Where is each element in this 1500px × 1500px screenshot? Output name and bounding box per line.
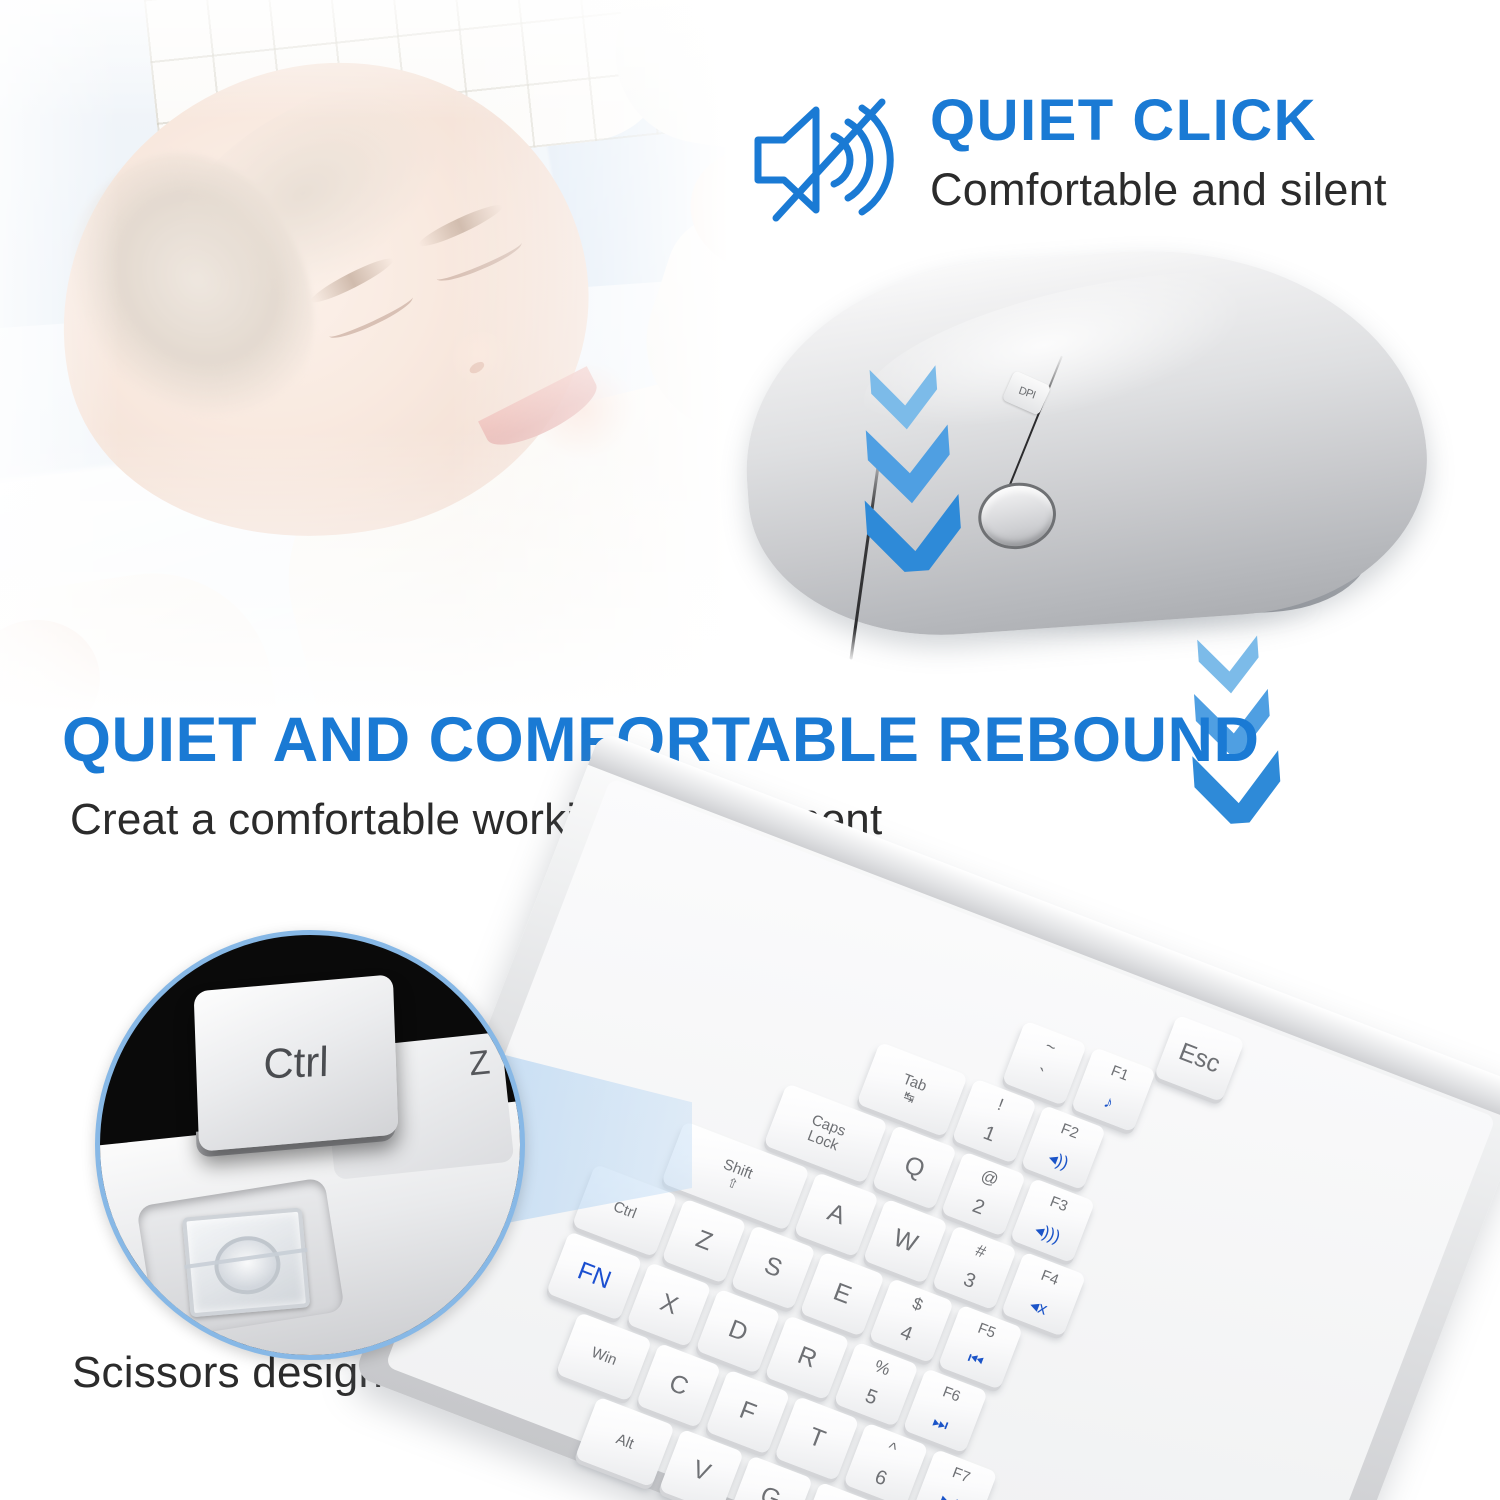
lifted-keycap-label: Ctrl (195, 979, 397, 1147)
key-label: G (734, 1473, 806, 1500)
key-label: Alt (584, 1420, 666, 1464)
key-label: Tab↹ (863, 1059, 961, 1120)
wireless-mouse: DPI (700, 235, 1500, 665)
key-label: S (737, 1242, 809, 1293)
key-label: Esc (1161, 1032, 1239, 1085)
key-label: E (806, 1269, 878, 1320)
scissor-switch-mechanism (182, 1207, 310, 1317)
key-label: C (643, 1360, 715, 1411)
key-label: A (800, 1189, 872, 1240)
baby-photo (0, 0, 790, 760)
dpi-button-label: DPI (1017, 385, 1037, 402)
lifted-keycap: Ctrl (194, 974, 399, 1152)
key-label: R (771, 1332, 843, 1383)
magnifier-circle: Z Ctrl (95, 930, 525, 1360)
key-label: FN (553, 1248, 636, 1303)
speaker-mute-icon (750, 96, 900, 224)
key-label: V (665, 1446, 737, 1497)
scroll-wheel[interactable] (973, 477, 1061, 556)
quiet-click-title: QUIET CLICK (930, 92, 1317, 150)
quiet-click-subtitle: Comfortable and silent (930, 164, 1387, 216)
product-feature-image: QUIET CLICK Comfortable and silent DPI (0, 0, 1500, 1500)
key-label: Q (878, 1142, 950, 1193)
key-label: Win (565, 1335, 643, 1378)
mouse-body: DPI (733, 232, 1437, 649)
key-label: X (633, 1279, 705, 1330)
key-label: D (702, 1306, 774, 1357)
keycap-slot (136, 1177, 345, 1340)
key-label: W (869, 1216, 941, 1267)
press-arrows-left-button (847, 358, 971, 575)
key-label: F (712, 1387, 784, 1438)
quiet-click-block: QUIET CLICK Comfortable and silent (748, 92, 1468, 242)
key-label: Z (668, 1216, 740, 1267)
key-label: T (781, 1413, 853, 1464)
